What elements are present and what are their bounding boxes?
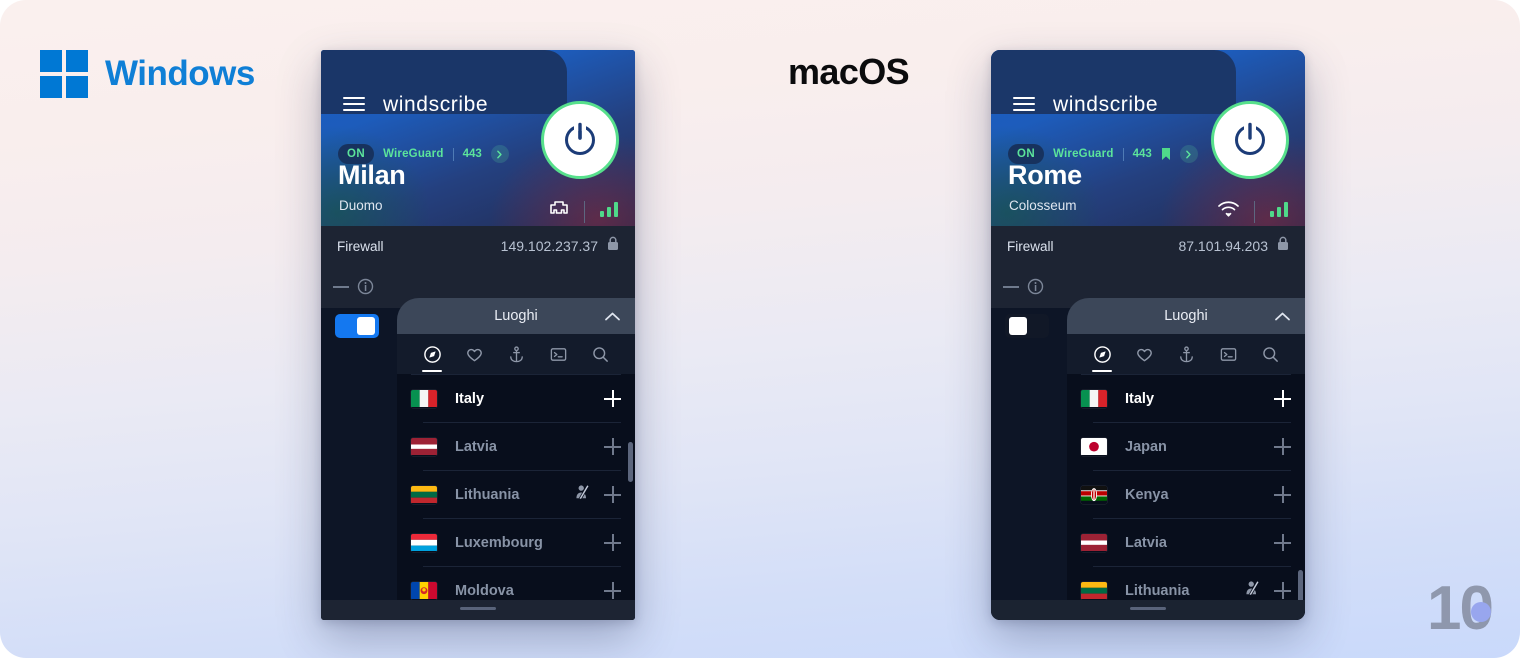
connection-header: windscribe ON WireGuard 443 Rome Colosse… [991, 50, 1305, 226]
country-name: Kenya [1125, 487, 1169, 503]
flag-icon-lv [411, 438, 437, 456]
plus-icon[interactable] [604, 390, 621, 407]
flag-icon-lt [411, 486, 437, 504]
tab-static-ips[interactable] [1169, 335, 1203, 373]
ip-address: 87.101.94.203 [1178, 238, 1268, 254]
badge-divider [1123, 148, 1124, 161]
flag-icon-lu [411, 534, 437, 552]
table-row[interactable]: Japan [1067, 423, 1305, 470]
indicator-divider [1254, 201, 1255, 223]
protocol-label[interactable]: WireGuard [1053, 148, 1114, 160]
plus-icon[interactable] [1274, 486, 1291, 503]
tab-all[interactable] [1085, 335, 1119, 373]
tab-all[interactable] [415, 335, 449, 373]
plus-icon[interactable] [604, 486, 621, 503]
power-icon[interactable] [1211, 101, 1289, 179]
firewall-toggle[interactable] [335, 314, 379, 338]
country-name: Moldova [455, 583, 514, 599]
flag-icon-it [411, 390, 437, 408]
windows-label: Windows [105, 54, 255, 94]
firewall-label: Firewall [1007, 239, 1054, 254]
indicator-divider [584, 201, 585, 223]
port-label[interactable]: 443 [463, 148, 482, 160]
bookmark-icon [1161, 147, 1171, 161]
locations-tabs [1067, 334, 1305, 374]
header-top-sheet [321, 50, 567, 88]
tab-config[interactable] [541, 335, 575, 373]
locations-panel: Luoghi [1067, 298, 1305, 620]
table-row[interactable]: Latvia [397, 423, 635, 470]
tab-static-ips[interactable] [499, 335, 533, 373]
plus-icon[interactable] [1274, 582, 1291, 599]
plus-icon[interactable] [1274, 534, 1291, 551]
tab-favourites[interactable] [457, 335, 491, 373]
lock-icon[interactable] [1277, 236, 1289, 256]
country-name: Lithuania [1125, 583, 1189, 599]
brand-title: windscribe [1053, 93, 1158, 117]
country-name: Latvia [1125, 535, 1167, 551]
dash-line [333, 286, 349, 288]
windows-logo: Windows [40, 50, 255, 98]
no-person-icon [574, 484, 592, 505]
tab-favourites[interactable] [1127, 335, 1161, 373]
ip-address: 149.102.237.37 [501, 238, 598, 254]
watermark-logo: 10 [1427, 578, 1492, 640]
ethernet-icon [548, 200, 570, 223]
country-name: Luxembourg [455, 535, 543, 551]
window-footer [321, 600, 635, 620]
chevron-up-icon[interactable] [1274, 310, 1291, 328]
connection-indicators [1217, 200, 1291, 223]
windscribe-window-macos: windscribe ON WireGuard 443 Rome Colosse… [991, 50, 1305, 620]
windscribe-window-windows: windscribe ON WireGuard 443 Milan Duomo [321, 50, 635, 620]
chevron-right-icon[interactable] [491, 145, 509, 163]
table-row[interactable]: Kenya [1067, 471, 1305, 518]
hamburger-icon[interactable] [1013, 96, 1035, 112]
chevron-right-icon[interactable] [1180, 145, 1198, 163]
country-name: Italy [1125, 391, 1154, 407]
connected-city: Milan [338, 160, 406, 191]
protocol-label[interactable]: WireGuard [383, 148, 444, 160]
resize-handle[interactable] [1130, 607, 1166, 610]
info-icon[interactable] [1027, 278, 1044, 300]
connected-nickname: Duomo [339, 198, 383, 213]
connection-indicators [548, 200, 621, 223]
chevron-up-icon[interactable] [604, 310, 621, 328]
table-row[interactable]: Luxembourg [397, 519, 635, 566]
locations-panel: Luoghi [397, 298, 635, 620]
country-name: Lithuania [455, 487, 519, 503]
firewall-toggle[interactable] [1005, 314, 1049, 338]
tab-search[interactable] [583, 335, 617, 373]
country-name: Latvia [455, 439, 497, 455]
flag-icon-it [1081, 390, 1107, 408]
connection-header: windscribe ON WireGuard 443 Milan Duomo [321, 50, 635, 226]
tab-config[interactable] [1211, 335, 1245, 373]
country-list: ItalyJapanKenyaLatviaLithuania [1067, 374, 1305, 620]
hamburger-icon[interactable] [343, 96, 365, 112]
country-rows-macos: ItalyJapanKenyaLatviaLithuania [1067, 375, 1305, 614]
watermark-zero-wrap: 0 [1460, 578, 1492, 640]
macos-label: macOS [788, 51, 909, 93]
country-name: Italy [455, 391, 484, 407]
country-list: ItalyLatviaLithuaniaLuxembourgMoldova [397, 374, 635, 620]
plus-icon[interactable] [604, 534, 621, 551]
country-rows-windows: ItalyLatviaLithuaniaLuxembourgMoldova [397, 375, 635, 614]
flag-icon-ke [1081, 486, 1107, 504]
flag-icon-lt [1081, 582, 1107, 600]
connected-city: Rome [1008, 160, 1082, 191]
port-label[interactable]: 443 [1133, 148, 1152, 160]
locations-title: Luoghi [1164, 308, 1208, 324]
header-top-sheet [991, 50, 1236, 88]
flag-icon-jp [1081, 438, 1107, 456]
dash-line [1003, 286, 1019, 288]
watermark-dot-icon [1471, 602, 1491, 622]
table-row[interactable]: Latvia [1067, 519, 1305, 566]
flag-icon-lv [1081, 534, 1107, 552]
locations-header[interactable]: Luoghi [1067, 298, 1305, 334]
wifi-icon [1217, 200, 1240, 223]
power-icon[interactable] [541, 101, 619, 179]
locations-header[interactable]: Luoghi [397, 298, 635, 334]
table-row[interactable]: Lithuania [397, 471, 635, 518]
signal-bars-icon [1269, 200, 1291, 223]
info-icon[interactable] [357, 278, 374, 300]
plus-icon[interactable] [604, 582, 621, 599]
windows-logo-icon [40, 50, 88, 98]
firewall-row: Firewall 149.102.237.37 [321, 226, 635, 266]
brand-title: windscribe [383, 93, 488, 117]
badge-divider [453, 148, 454, 161]
firewall-row: Firewall 87.101.94.203 [991, 226, 1305, 266]
list-scrollbar[interactable] [628, 442, 633, 482]
connected-nickname: Colosseum [1009, 198, 1077, 213]
country-name: Japan [1125, 439, 1167, 455]
resize-handle[interactable] [460, 607, 496, 610]
plus-icon[interactable] [1274, 390, 1291, 407]
tab-search[interactable] [1253, 335, 1287, 373]
window-footer [991, 600, 1305, 620]
firewall-right: 87.101.94.203 [1178, 236, 1289, 256]
table-row[interactable]: Italy [1067, 375, 1305, 422]
plus-icon[interactable] [604, 438, 621, 455]
poster-canvas: Windows macOS 10 windscribe ON WireGuard… [0, 0, 1520, 658]
flag-icon-md [411, 582, 437, 600]
locations-title: Luoghi [494, 308, 538, 324]
plus-icon[interactable] [1274, 438, 1291, 455]
watermark-one: 1 [1427, 574, 1459, 643]
lock-icon[interactable] [607, 236, 619, 256]
table-row[interactable]: Italy [397, 375, 635, 422]
no-person-icon [1244, 580, 1262, 601]
firewall-label: Firewall [337, 239, 384, 254]
locations-tabs [397, 334, 635, 374]
firewall-right: 149.102.237.37 [501, 236, 619, 256]
signal-bars-icon [599, 200, 621, 223]
